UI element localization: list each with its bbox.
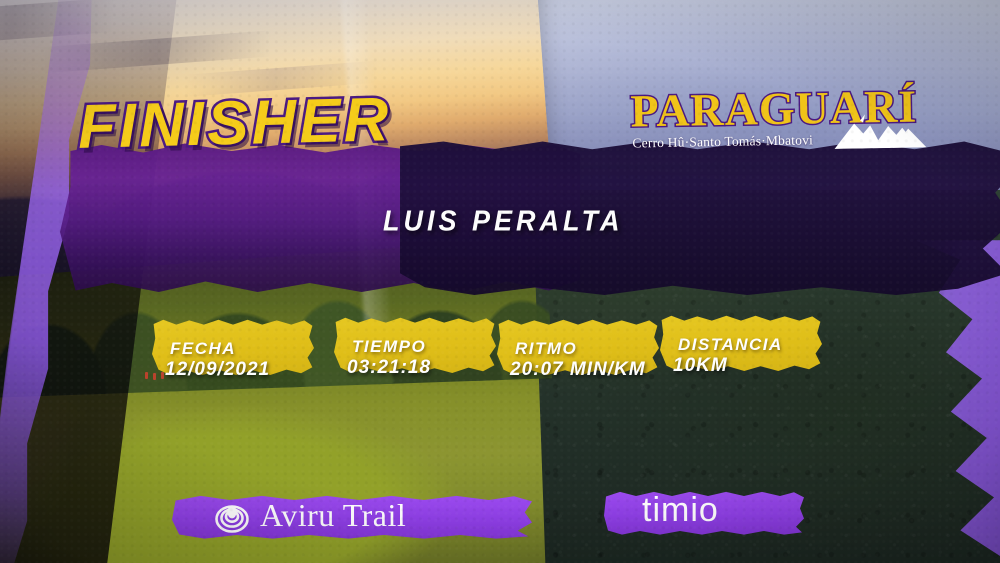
sponsor-timio: timio (604, 490, 804, 536)
stat-label: FECHA (170, 339, 236, 359)
stat-box-time: TIEMPO 03:21:18 (334, 316, 496, 376)
sponsor-label: Aviru Trail (260, 497, 406, 534)
stat-box-date: FECHA 12/09/2021 (152, 318, 314, 378)
finisher-card: FINISHER PARAGUARÍ Cerro Hû·Santo Tomás·… (0, 0, 1000, 563)
stat-label: RITMO (515, 339, 577, 359)
spiral-shell-icon (214, 500, 250, 534)
stat-box-distance: DISTANCIA 10KM (660, 314, 822, 374)
stats-group: FECHA 12/09/2021 TIEMPO 03:21:18 RITMO 2… (0, 0, 1000, 563)
stat-label: TIEMPO (352, 337, 426, 357)
stat-value: 10KM (673, 355, 728, 377)
sponsor-aviru-trail: Aviru Trail (172, 494, 532, 540)
stat-value: 20:07 MIN/KM (510, 359, 646, 381)
stat-label: DISTANCIA (678, 335, 783, 355)
sponsor-label: timio (642, 491, 719, 530)
stat-value: 03:21:18 (347, 357, 431, 379)
stat-value: 12/09/2021 (165, 359, 270, 381)
stat-box-pace: RITMO 20:07 MIN/KM (497, 318, 659, 378)
